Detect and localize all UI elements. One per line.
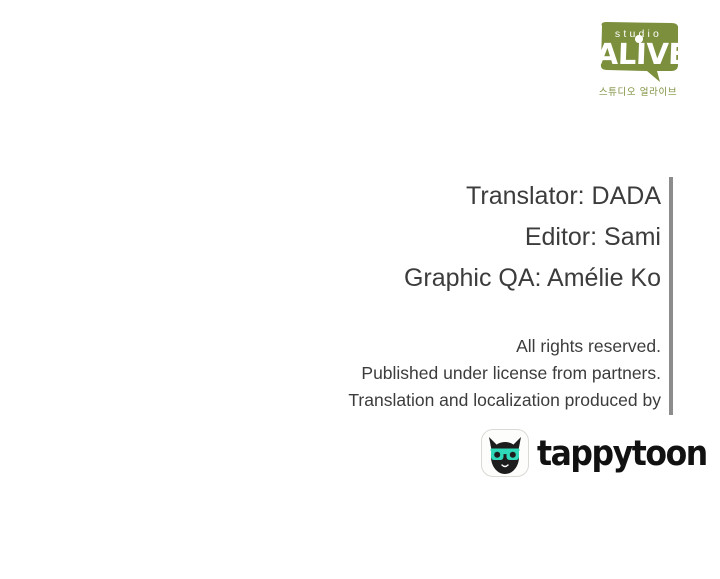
speech-bubble-shape: studio ALIVE — [594, 20, 686, 82]
credits-page: studio ALIVE 스튜디오 얼라이브 Translator: DADA … — [0, 0, 720, 579]
tappytoon-wordmark: tappytoon — [537, 432, 707, 476]
tappytoon-app-icon — [481, 429, 529, 477]
cat-with-glasses-icon — [482, 430, 528, 476]
legal-line-license: Published under license from partners. — [201, 360, 661, 387]
tappytoon-logo: tappytoon — [481, 429, 676, 481]
credits-divider — [669, 177, 673, 415]
studio-alive-logo: studio ALIVE 스튜디오 얼라이브 — [594, 18, 686, 110]
credit-line-editor: Editor: Sami — [241, 217, 661, 258]
legal-line-rights: All rights reserved. — [201, 333, 661, 360]
studio-alive-korean-text: 스튜디오 얼라이브 — [592, 88, 684, 98]
legal-line-producer: Translation and localization produced by — [201, 387, 661, 414]
legal-block: All rights reserved. Published under lic… — [201, 333, 661, 414]
credit-line-graphic-qa: Graphic QA: Amélie Ko — [241, 258, 661, 299]
credit-line-translator: Translator: DADA — [241, 176, 661, 217]
alive-wordmark: ALIVE — [593, 40, 680, 69]
credits-block: Translator: DADA Editor: Sami Graphic QA… — [241, 176, 661, 299]
